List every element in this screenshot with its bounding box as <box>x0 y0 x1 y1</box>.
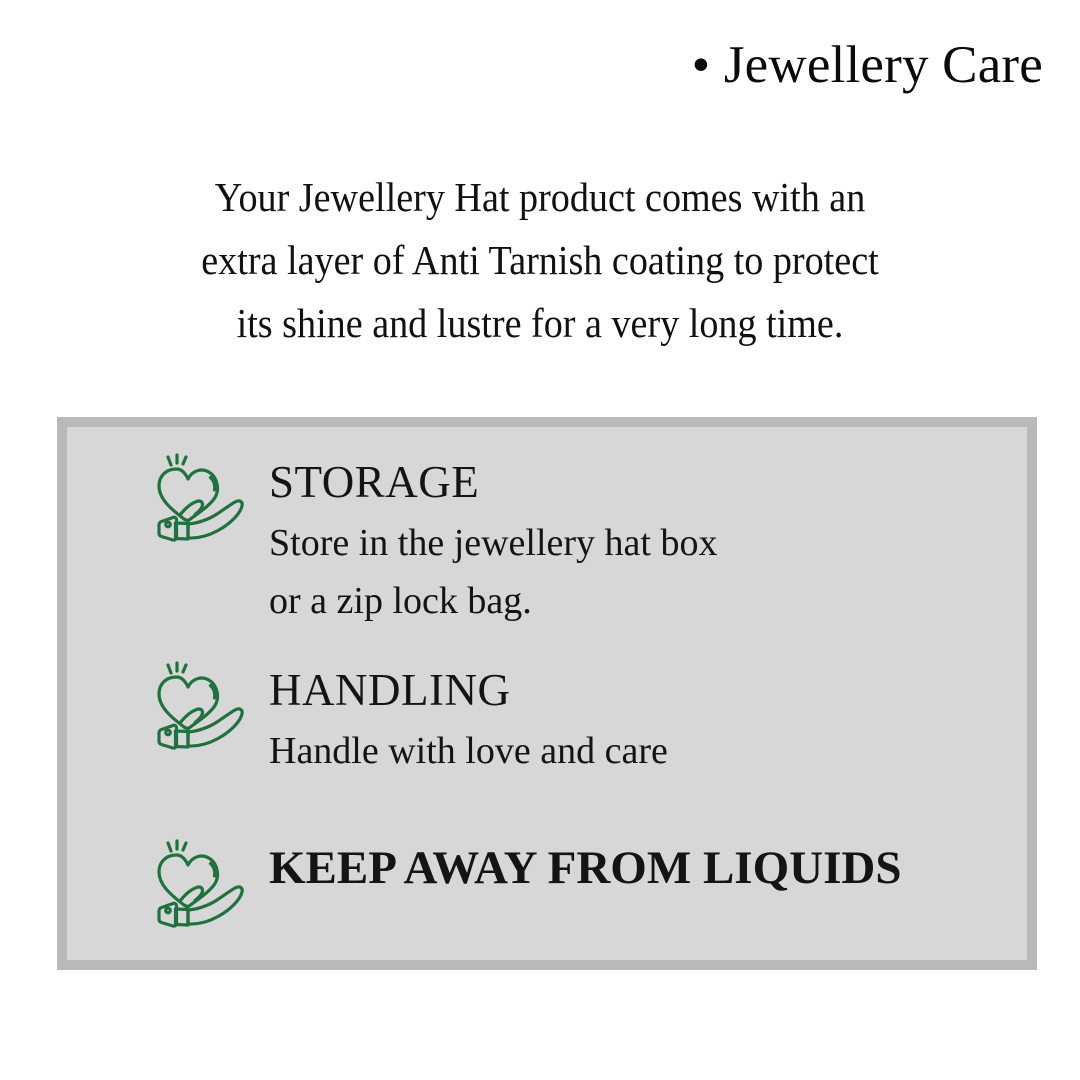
intro-line-2: extra layer of Anti Tarnish coating to p… <box>103 229 977 292</box>
list-item-text: STORAGE Store in the jewellery hat box o… <box>269 452 718 630</box>
list-item: KEEP AWAY FROM LIQUIDS <box>151 838 901 938</box>
care-heading: HANDLING <box>269 665 510 715</box>
heart-in-hand-icon <box>151 660 251 760</box>
list-item: STORAGE Store in the jewellery hat box o… <box>151 452 718 630</box>
list-item-text: KEEP AWAY FROM LIQUIDS <box>269 838 901 894</box>
care-description: Store in the jewellery hat box or a zip … <box>269 514 718 630</box>
title-bullet: • <box>692 36 711 94</box>
care-description-line-2: or a zip lock bag. <box>269 572 718 630</box>
care-description-line-1: Store in the jewellery hat box <box>269 514 718 572</box>
care-heading: KEEP AWAY FROM LIQUIDS <box>269 842 901 894</box>
page-title: • Jewellery Care <box>0 30 1043 100</box>
list-item-text: HANDLING Handle with love and care <box>269 660 668 780</box>
intro-line-3: its shine and lustre for a very long tim… <box>103 292 977 355</box>
care-instructions-list: STORAGE Store in the jewellery hat box o… <box>67 427 1027 960</box>
title-text: Jewellery Care <box>724 36 1043 94</box>
intro-line-1: Your Jewellery Hat product comes with an <box>103 166 977 229</box>
intro-paragraph: Your Jewellery Hat product comes with an… <box>103 166 977 355</box>
list-item: HANDLING Handle with love and care <box>151 660 668 780</box>
care-heading: STORAGE <box>269 457 479 507</box>
care-description-line-1: Handle with love and care <box>269 722 668 780</box>
heart-in-hand-icon <box>151 838 251 938</box>
care-instructions-panel: STORAGE Store in the jewellery hat box o… <box>57 417 1037 970</box>
care-description: Handle with love and care <box>269 722 668 780</box>
heart-in-hand-icon <box>151 452 251 552</box>
